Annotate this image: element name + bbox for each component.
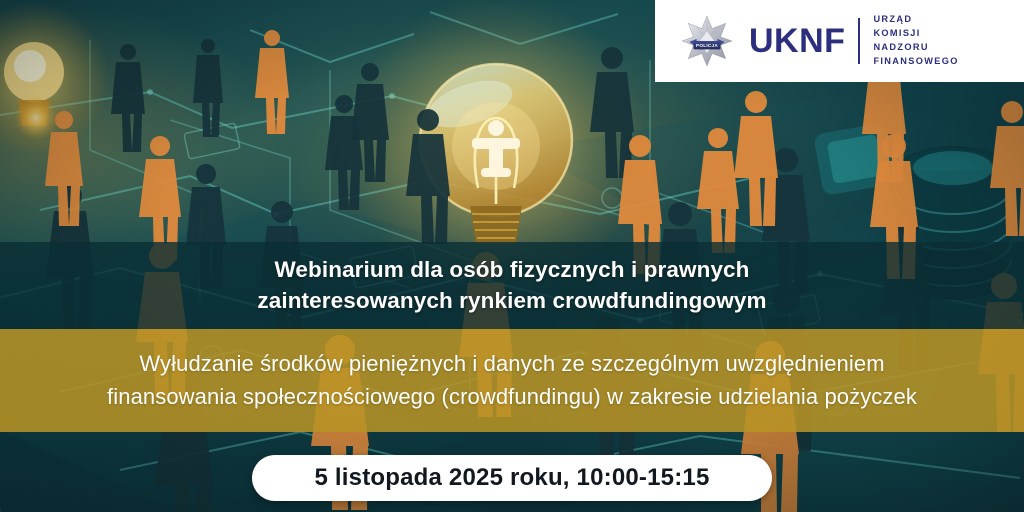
uknf-full-name: URZĄD KOMISJI NADZORU FINANSOWEGO (873, 13, 958, 69)
date-badge: 5 listopada 2025 roku, 10:00-15:15 (252, 455, 772, 501)
logo-plate: POLICJA UKNF URZĄD KOMISJI NADZORU FINAN… (655, 0, 1024, 82)
logo-divider (858, 18, 860, 64)
uknf-lockup: UKNF URZĄD KOMISJI NADZORU FINANSOWEGO (749, 13, 959, 69)
uknf-name-line-2: KOMISJI (873, 27, 958, 41)
title-line-2: zainteresowanych rynkiem crowdfundingowy… (257, 286, 766, 317)
subtitle-band: Wyłudzanie środków pieniężnych i danych … (0, 329, 1024, 432)
subtitle-line-2: finansowania społecznościowego (crowdfun… (107, 381, 917, 414)
uknf-name-line-1: URZĄD (873, 13, 958, 27)
policja-badge-icon: POLICJA (681, 15, 733, 67)
title-line-1: Webinarium dla osób fizycznych i prawnyc… (274, 255, 749, 286)
policja-badge-text: POLICJA (696, 43, 718, 48)
date-badge-text: 5 listopada 2025 roku, 10:00-15:15 (315, 464, 710, 492)
uknf-acronym: UKNF (749, 24, 845, 58)
webinar-promo-banner: POLICJA UKNF URZĄD KOMISJI NADZORU FINAN… (0, 0, 1024, 512)
subtitle-line-1: Wyłudzanie środków pieniężnych i danych … (139, 348, 884, 381)
uknf-name-line-3: NADZORU (873, 41, 958, 55)
uknf-name-line-4: FINANSOWEGO (873, 55, 958, 69)
title-band: Webinarium dla osób fizycznych i prawnyc… (0, 242, 1024, 329)
